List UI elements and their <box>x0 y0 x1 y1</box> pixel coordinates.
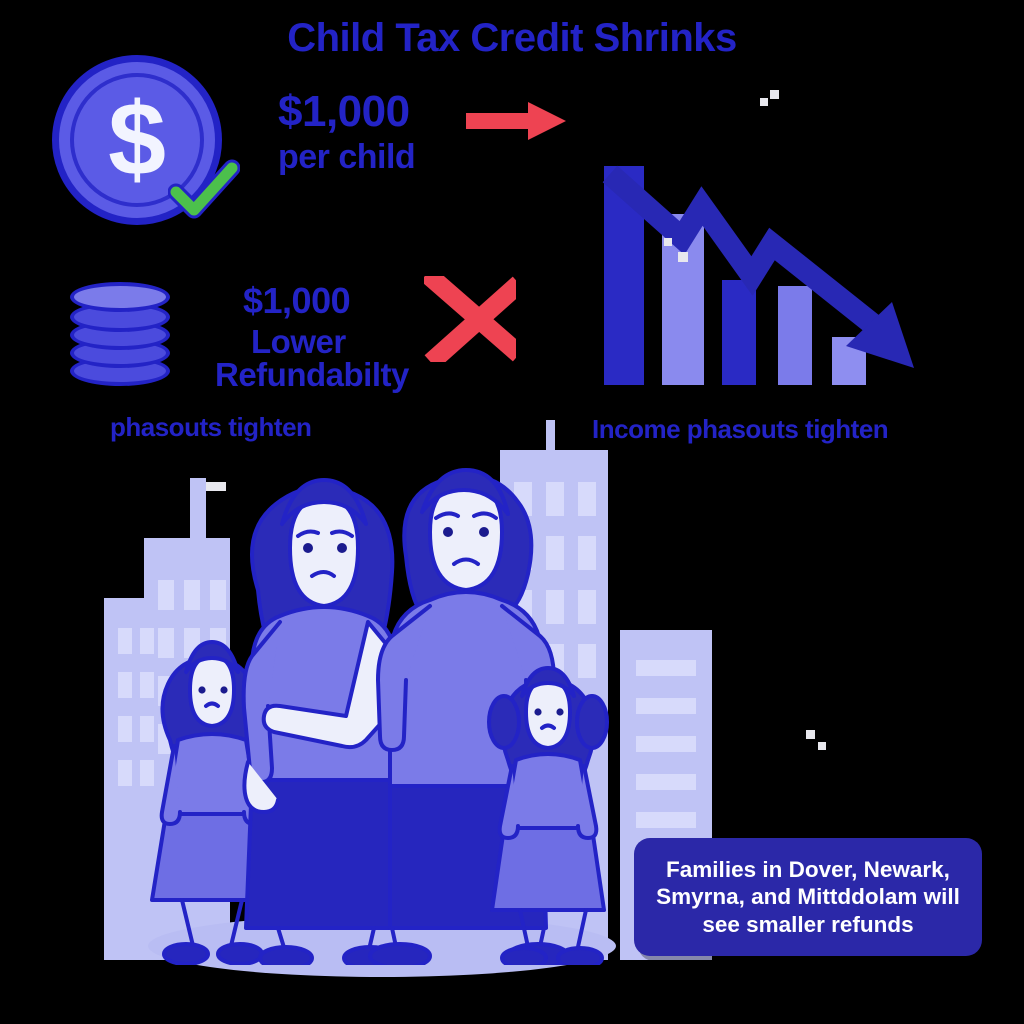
reduction-line-2: Refundabilty <box>215 358 409 392</box>
speckle <box>678 252 688 262</box>
declining-zigzag-arrow-icon <box>596 160 926 382</box>
reduction-amount: $1,000 <box>243 283 350 320</box>
speckle <box>760 98 768 106</box>
speckle <box>206 482 226 491</box>
page-title: Child Tax Credit Shrinks <box>0 18 1024 59</box>
speckle <box>818 742 826 750</box>
red-right-arrow-icon <box>466 100 566 142</box>
speckle <box>770 90 779 99</box>
status-banner: Families in Dover, Newark, Smyrna, and M… <box>634 838 982 956</box>
credit-amount: $1,000 <box>278 90 410 135</box>
speckle <box>664 238 672 246</box>
reduction-line-1: Lower <box>251 325 346 359</box>
credit-unit-label: per child <box>278 140 415 175</box>
speckle <box>806 730 815 739</box>
green-check-icon <box>168 152 240 224</box>
red-x-icon <box>424 276 516 362</box>
coin-stack-icon <box>70 282 174 386</box>
infographic-poster: Child Tax Credit Shrinks $ $1,000 per ch… <box>0 0 1024 1024</box>
banner-text: Families in Dover, Newark, Smyrna, and M… <box>634 856 982 938</box>
family-illustration <box>130 440 650 965</box>
